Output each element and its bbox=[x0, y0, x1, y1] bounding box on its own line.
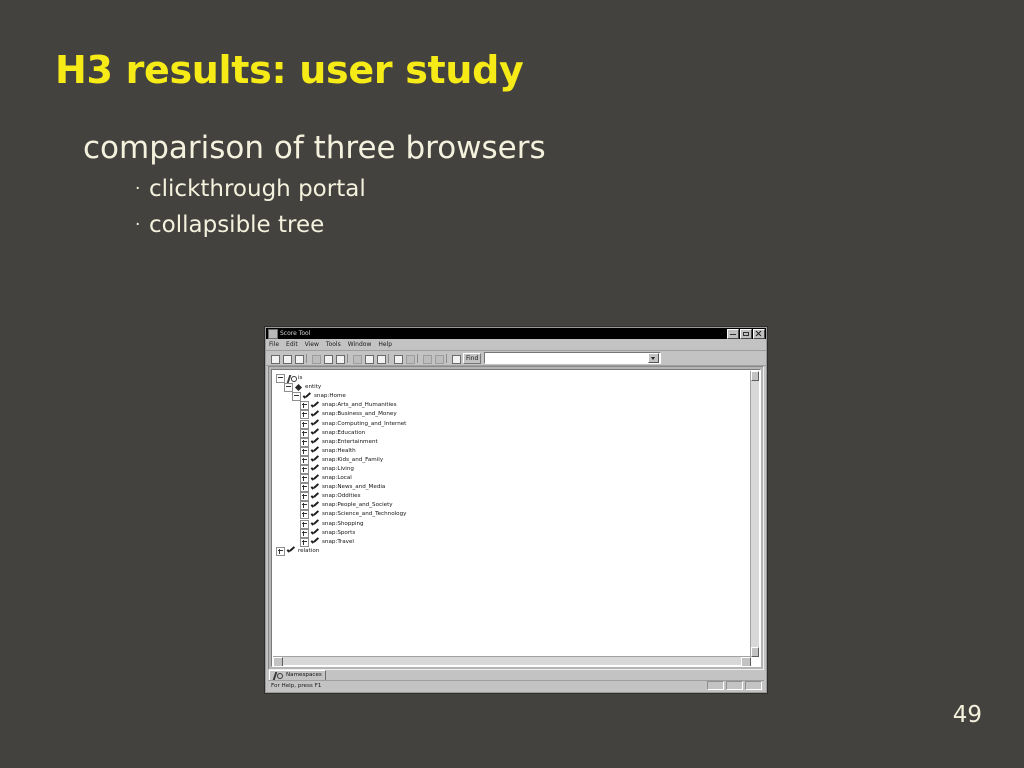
help-arrow-icon[interactable] bbox=[375, 353, 386, 364]
check-icon bbox=[311, 493, 319, 501]
tree-node[interactable]: snap:Kids_and_Family bbox=[276, 456, 751, 465]
tab-label: Namespaces bbox=[286, 671, 322, 680]
check-icon bbox=[311, 429, 319, 437]
check-icon bbox=[311, 502, 319, 510]
check-icon bbox=[311, 511, 319, 519]
app-menubar: File Edit View Tools Window Help bbox=[266, 339, 766, 351]
minimize-button[interactable] bbox=[727, 329, 739, 339]
tree-node-label: snap:Oddities bbox=[322, 492, 360, 501]
maximize-button[interactable] bbox=[740, 329, 752, 339]
tree-node-label: snap:People_and_Society bbox=[322, 501, 393, 510]
check-icon bbox=[311, 402, 319, 410]
check-icon bbox=[311, 456, 319, 464]
menu-view[interactable]: View bbox=[305, 341, 319, 348]
scroll-left-button[interactable] bbox=[273, 657, 283, 667]
check-icon bbox=[311, 529, 319, 537]
tree-node[interactable]: entity bbox=[276, 383, 751, 392]
status-pane bbox=[726, 681, 743, 690]
tree-node[interactable]: snap:People_and_Society bbox=[276, 501, 751, 510]
properties-question-icon[interactable] bbox=[363, 353, 374, 364]
tree-expand-icon[interactable] bbox=[300, 410, 309, 419]
tree-expand-icon[interactable] bbox=[300, 420, 309, 429]
tree-node[interactable]: snap:Health bbox=[276, 447, 751, 456]
bullet-item: ·collapsible tree bbox=[135, 212, 324, 238]
tree-node-label: snap:Living bbox=[322, 465, 354, 474]
tree-node-label: snap:Travel bbox=[322, 538, 354, 547]
tree-expand-icon[interactable] bbox=[300, 483, 309, 492]
status-text: For Help, press F1 bbox=[268, 683, 707, 689]
app-toolbar: Find bbox=[266, 351, 766, 366]
tree-expand-icon[interactable] bbox=[300, 465, 309, 474]
tree-node[interactable]: snap:Travel bbox=[276, 538, 751, 547]
check-icon bbox=[311, 484, 319, 492]
tree-expand-icon[interactable] bbox=[300, 492, 309, 501]
tree-expand-icon[interactable] bbox=[300, 510, 309, 519]
save-disk-icon[interactable] bbox=[293, 353, 304, 364]
app-title: Score Tool bbox=[280, 330, 726, 337]
check-icon bbox=[311, 538, 319, 546]
tree-node-label: snap:Arts_and_Humanities bbox=[322, 401, 397, 410]
tree-expand-icon[interactable] bbox=[300, 447, 309, 456]
page-number: 49 bbox=[953, 702, 982, 728]
table-view-icon[interactable] bbox=[421, 353, 432, 364]
cut-scissors-icon[interactable] bbox=[310, 353, 321, 364]
page-title: H3 results: user study bbox=[55, 48, 524, 92]
check-icon bbox=[311, 420, 319, 428]
menu-window[interactable]: Window bbox=[348, 341, 372, 348]
copy-pages-icon[interactable] bbox=[322, 353, 333, 364]
tree-node[interactable]: snap:Home bbox=[276, 392, 751, 401]
tree-expand-icon[interactable] bbox=[276, 547, 285, 556]
app-statusbar: For Help, press F1 bbox=[268, 680, 764, 690]
paste-clipboard-icon[interactable] bbox=[334, 353, 345, 364]
tree-expand-icon[interactable] bbox=[300, 520, 309, 529]
tree-collapse-icon[interactable] bbox=[284, 383, 293, 392]
tree-node[interactable]: snap:Local bbox=[276, 474, 751, 483]
namespace-icon bbox=[287, 375, 295, 383]
tree-node-label: snap:Local bbox=[322, 474, 352, 483]
tree-node-label: snap:Kids_and_Family bbox=[322, 456, 383, 465]
status-pane bbox=[745, 681, 762, 690]
toolbar-separator bbox=[346, 353, 350, 364]
app-client-area: isentitysnap:Homesnap:Arts_and_Humanitie… bbox=[268, 366, 764, 670]
scroll-down-button[interactable] bbox=[751, 647, 759, 657]
diamond-icon bbox=[295, 384, 302, 391]
check-icon bbox=[303, 393, 311, 401]
scroll-right-button[interactable] bbox=[741, 657, 751, 667]
menu-file[interactable]: File bbox=[269, 341, 279, 348]
stop-square-icon[interactable] bbox=[404, 353, 415, 364]
tree-expand-icon[interactable] bbox=[300, 501, 309, 510]
app-titlebar: Score Tool bbox=[266, 328, 766, 339]
tree-node-label: snap:Science_and_Technology bbox=[322, 510, 406, 519]
tree-node[interactable]: snap:Science_and_Technology bbox=[276, 510, 751, 519]
check-icon bbox=[311, 475, 319, 483]
delete-item-icon[interactable] bbox=[351, 353, 362, 364]
tree-node[interactable]: snap:Living bbox=[276, 465, 751, 474]
embedded-app-window: Score Tool File Edit View Tools Window H… bbox=[265, 327, 767, 693]
close-button[interactable] bbox=[753, 329, 765, 339]
scroll-up-button[interactable] bbox=[751, 371, 759, 381]
bullet-text: clickthrough portal bbox=[149, 176, 366, 202]
check-icon bbox=[311, 447, 319, 455]
tree-node-label: snap:Sports bbox=[322, 529, 355, 538]
tree-node-label: is bbox=[298, 374, 302, 383]
tree-expand-icon[interactable] bbox=[300, 456, 309, 465]
check-icon bbox=[287, 547, 295, 555]
tree-node-label: snap:Computing_and_Internet bbox=[322, 420, 406, 429]
tree-node-label: snap:News_and_Media bbox=[322, 483, 385, 492]
menu-tools[interactable]: Tools bbox=[326, 341, 341, 348]
tree-node-label: entity bbox=[305, 383, 321, 392]
tree-collapse-icon[interactable] bbox=[276, 374, 285, 383]
tree-node-label: relation bbox=[298, 547, 319, 556]
menu-edit[interactable]: Edit bbox=[286, 341, 298, 348]
tree-node-label: snap:Shopping bbox=[322, 520, 364, 529]
tree-node-label: snap:Home bbox=[314, 392, 346, 401]
tree-node-label: snap:Health bbox=[322, 447, 356, 456]
tree-expand-icon[interactable] bbox=[300, 438, 309, 447]
list-view-icon[interactable] bbox=[392, 353, 403, 364]
tab-strip: Namespaces bbox=[269, 671, 326, 680]
new-document-icon[interactable] bbox=[269, 353, 280, 364]
bullet-marker-icon: · bbox=[135, 179, 149, 199]
check-icon bbox=[311, 438, 319, 446]
check-icon bbox=[311, 465, 319, 473]
toolbar-separator bbox=[387, 353, 391, 364]
status-pane bbox=[707, 681, 724, 690]
tree-node[interactable]: snap:Business_and_Money bbox=[276, 410, 751, 419]
bullet-item: ·clickthrough portal bbox=[135, 176, 366, 202]
horizontal-scrollbar[interactable] bbox=[273, 656, 751, 665]
tree-expand-icon[interactable] bbox=[300, 474, 309, 483]
tree-expand-icon[interactable] bbox=[300, 538, 309, 547]
toolbar-separator bbox=[416, 353, 420, 364]
bullet-marker-icon: · bbox=[135, 215, 149, 235]
tree-expand-icon[interactable] bbox=[300, 529, 309, 538]
tree-node[interactable]: snap:Education bbox=[276, 429, 751, 438]
check-icon bbox=[311, 411, 319, 419]
tree-node[interactable]: snap:Oddities bbox=[276, 492, 751, 501]
slide-subtitle: comparison of three browsers bbox=[83, 130, 546, 166]
check-icon bbox=[311, 520, 319, 528]
namespace-tree[interactable]: isentitysnap:Homesnap:Arts_and_Humanitie… bbox=[274, 372, 751, 657]
tree-node[interactable]: snap:Computing_and_Internet bbox=[276, 419, 751, 428]
tree-node[interactable]: snap:Arts_and_Humanities bbox=[276, 401, 751, 410]
chevron-down-icon[interactable] bbox=[648, 353, 659, 363]
tree-node-label: snap:Education bbox=[322, 429, 365, 438]
outline-view-icon[interactable] bbox=[450, 353, 461, 364]
open-folder-icon[interactable] bbox=[281, 353, 292, 364]
namespace-icon bbox=[273, 672, 281, 680]
tree-node[interactable]: snap:Sports bbox=[276, 529, 751, 538]
find-label: Find bbox=[463, 353, 481, 364]
tree-node[interactable]: is bbox=[276, 374, 751, 383]
document-frame: isentitysnap:Homesnap:Arts_and_Humanitie… bbox=[271, 369, 761, 667]
table-dropdown-icon[interactable] bbox=[433, 353, 444, 364]
tree-node-label: snap:Business_and_Money bbox=[322, 410, 397, 419]
tree-node[interactable]: snap:Entertainment bbox=[276, 438, 751, 447]
toolbar-separator bbox=[445, 353, 449, 364]
app-icon bbox=[268, 329, 278, 339]
tree-node[interactable]: snap:News_and_Media bbox=[276, 483, 751, 492]
toolbar-separator bbox=[305, 353, 309, 364]
tree-collapse-icon[interactable] bbox=[292, 392, 301, 401]
find-combobox[interactable] bbox=[484, 352, 661, 364]
tree-expand-icon[interactable] bbox=[300, 401, 309, 410]
tree-expand-icon[interactable] bbox=[300, 429, 309, 438]
menu-help[interactable]: Help bbox=[378, 341, 392, 348]
tree-node[interactable]: relation bbox=[276, 547, 751, 556]
bullet-text: collapsible tree bbox=[149, 212, 324, 238]
vertical-scrollbar[interactable] bbox=[750, 371, 759, 657]
tree-node[interactable]: snap:Shopping bbox=[276, 520, 751, 529]
tree-node-label: snap:Entertainment bbox=[322, 438, 378, 447]
